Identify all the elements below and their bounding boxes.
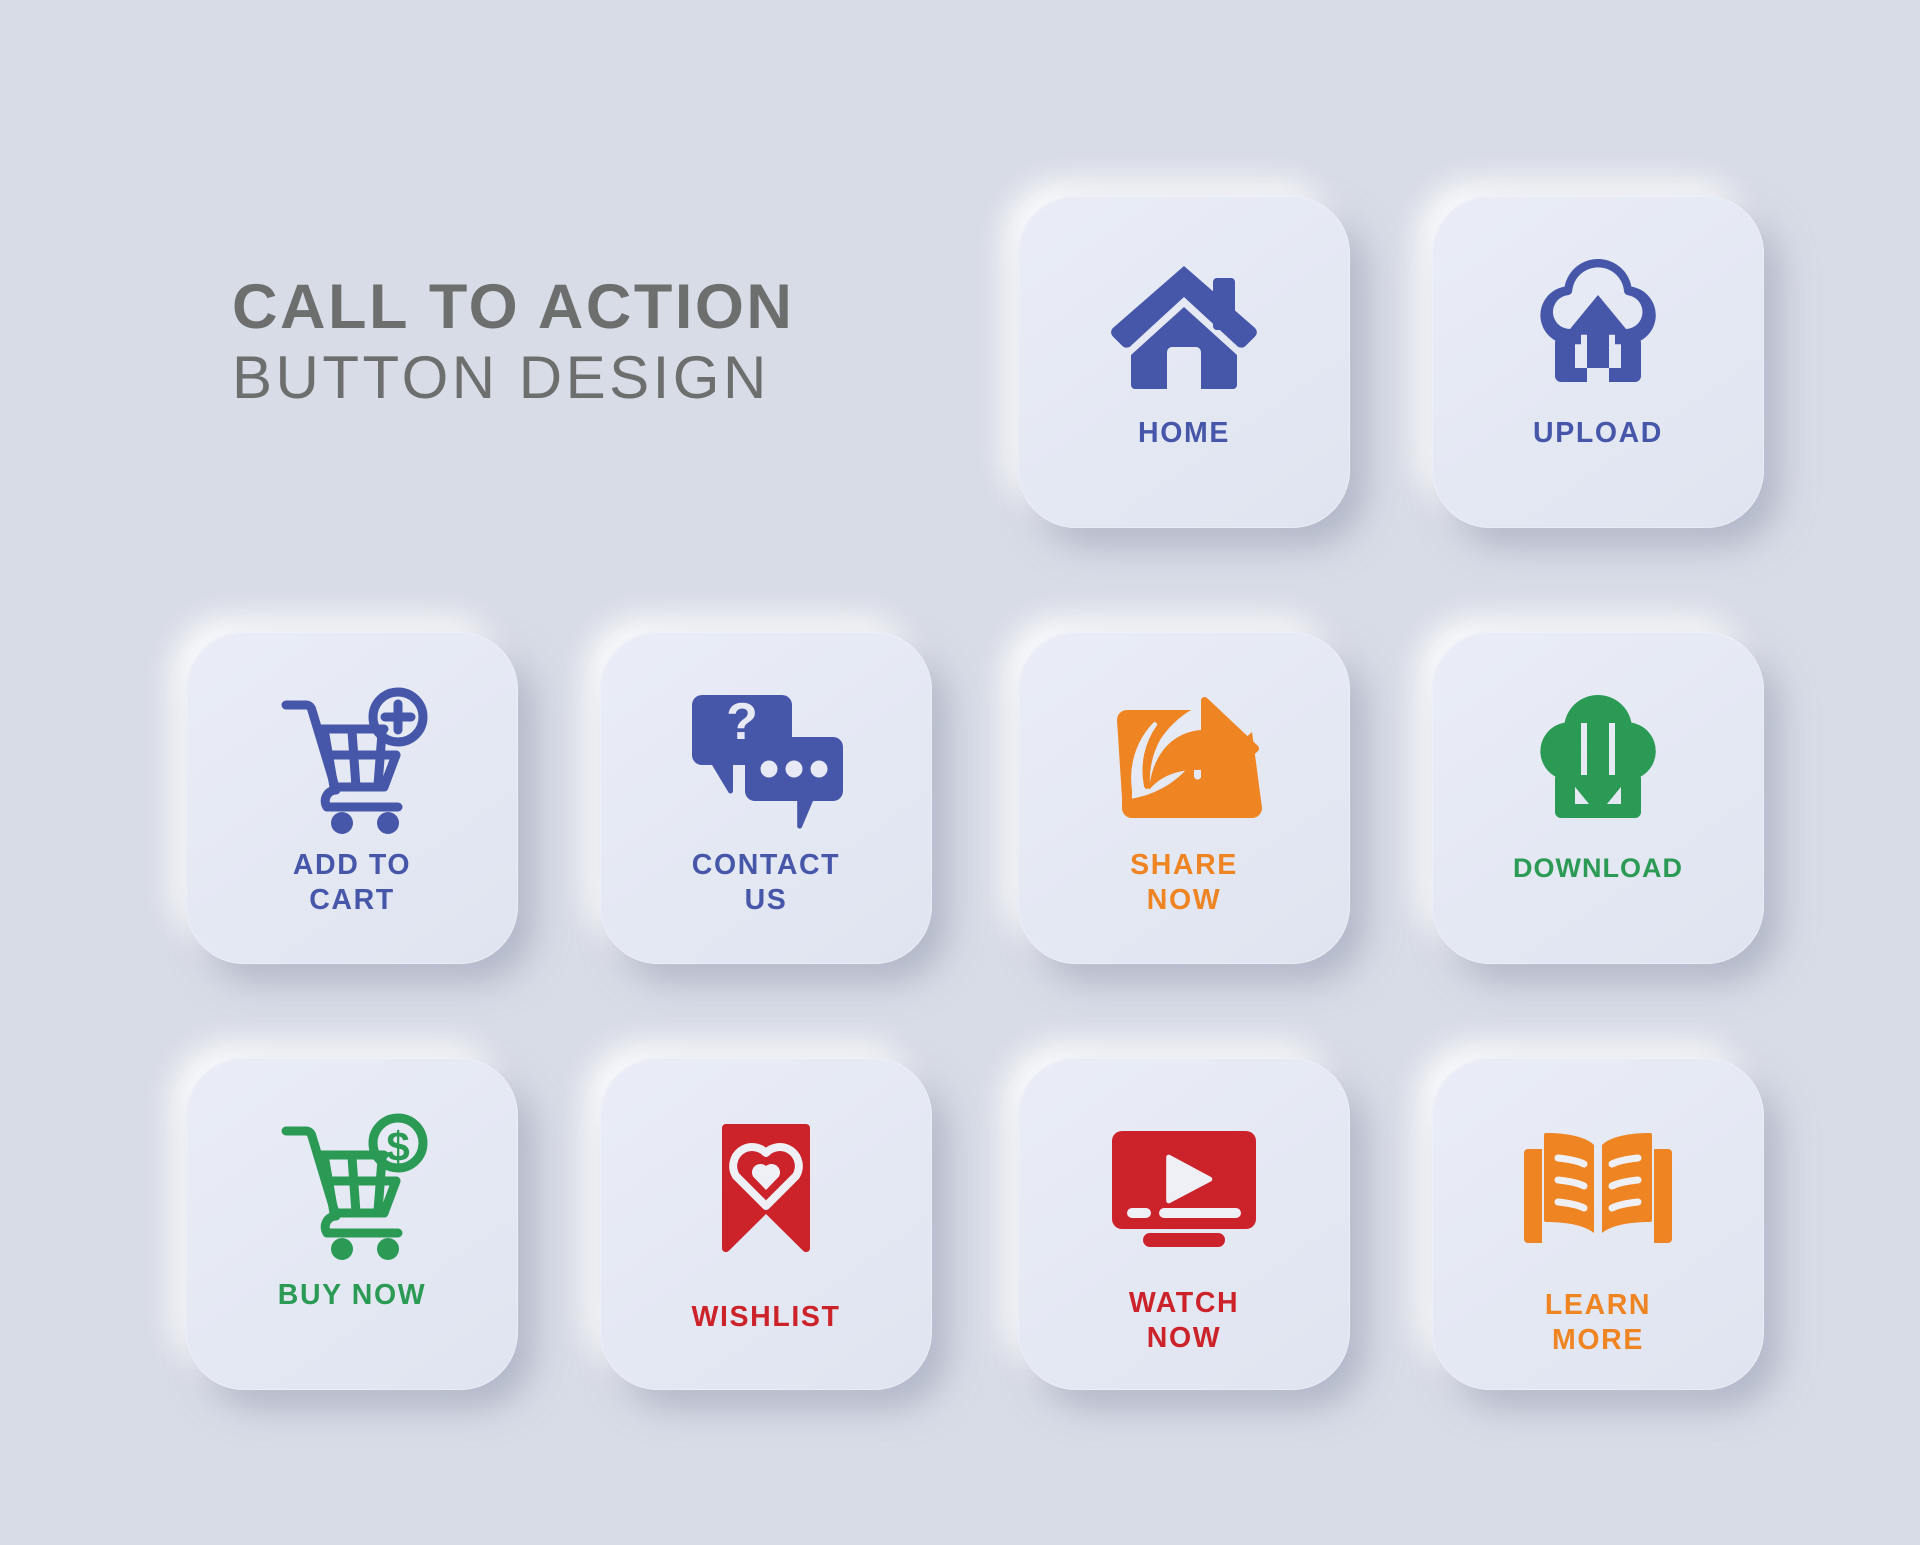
cta-label-watch-now: WATCH NOW bbox=[1018, 1286, 1350, 1356]
poster-canvas: CALL TO ACTION BUTTON DESIGN HOME bbox=[0, 0, 1920, 1545]
title-line-secondary: BUTTON DESIGN bbox=[232, 343, 932, 414]
cta-button-wishlist[interactable]: WISHLIST bbox=[600, 1058, 932, 1390]
cta-button-buy-now[interactable]: $ BUY NOW bbox=[186, 1058, 518, 1390]
cart-dollar-icon: $ bbox=[272, 1104, 432, 1272]
page-title: CALL TO ACTION BUTTON DESIGN bbox=[232, 272, 932, 413]
cta-label-contact-us: CONTACT US bbox=[600, 848, 932, 918]
cta-button-contact-us[interactable]: ? CONTACT US bbox=[600, 632, 932, 964]
svg-text:$: $ bbox=[386, 1123, 409, 1170]
chat-bubbles-icon: ? bbox=[689, 678, 844, 846]
cta-label-add-to-cart: ADD TO CART bbox=[186, 848, 518, 918]
video-player-icon bbox=[1109, 1104, 1259, 1272]
cta-label-download: DOWNLOAD bbox=[1432, 852, 1764, 885]
cta-button-home[interactable]: HOME bbox=[1018, 196, 1350, 528]
cta-label-wishlist: WISHLIST bbox=[600, 1300, 932, 1335]
cta-button-watch-now[interactable]: WATCH NOW bbox=[1018, 1058, 1350, 1390]
cart-plus-icon bbox=[272, 678, 432, 846]
cta-button-add-to-cart[interactable]: ADD TO CART bbox=[186, 632, 518, 964]
cta-button-download[interactable]: DOWNLOAD bbox=[1432, 632, 1764, 964]
cta-button-upload[interactable]: UPLOAD bbox=[1432, 196, 1764, 528]
cta-label-buy-now: BUY NOW bbox=[186, 1278, 518, 1313]
cloud-upload-icon bbox=[1523, 242, 1673, 410]
bookmark-heart-icon bbox=[716, 1104, 816, 1272]
home-icon bbox=[1109, 242, 1259, 410]
cloud-download-icon bbox=[1523, 678, 1673, 846]
cta-button-learn-more[interactable]: LEARN MORE bbox=[1432, 1058, 1764, 1390]
cta-label-share-now: SHARE NOW bbox=[1018, 848, 1350, 918]
cta-label-home: HOME bbox=[1018, 416, 1350, 451]
cta-label-learn-more: LEARN MORE bbox=[1432, 1288, 1764, 1358]
cta-label-upload: UPLOAD bbox=[1432, 416, 1764, 451]
cta-button-share-now[interactable]: SHARE NOW bbox=[1018, 632, 1350, 964]
title-line-primary: CALL TO ACTION bbox=[232, 272, 932, 343]
open-book-icon bbox=[1522, 1104, 1674, 1272]
share-arrow-icon bbox=[1107, 678, 1262, 846]
